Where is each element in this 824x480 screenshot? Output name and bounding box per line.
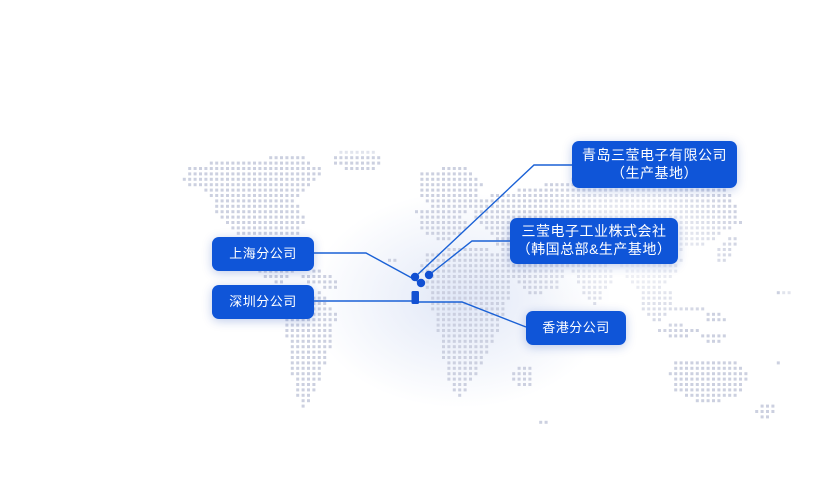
world-map-infographic: 青岛三莹电子有限公司 （生产基地） 三莹电子工业株式会社 （韩国总部&生产基地）… bbox=[0, 0, 824, 480]
map-marker-shenzhen[interactable] bbox=[412, 291, 420, 304]
label-qingdao-line-1: 青岛三莹电子有限公司 bbox=[582, 147, 727, 165]
label-box-shanghai[interactable]: 上海分公司 bbox=[212, 237, 314, 271]
map-marker-qingdao[interactable] bbox=[411, 273, 419, 281]
label-korea-line-1: 三莹电子工业株式会社 bbox=[522, 223, 667, 241]
connector-shanghai bbox=[314, 253, 421, 283]
label-box-hongkong[interactable]: 香港分公司 bbox=[526, 311, 626, 345]
map-marker-korea[interactable] bbox=[425, 271, 433, 279]
label-box-qingdao[interactable]: 青岛三莹电子有限公司 （生产基地） bbox=[572, 141, 737, 188]
label-shenzhen-line-1: 深圳分公司 bbox=[229, 294, 297, 311]
connector-korea bbox=[429, 241, 510, 275]
label-korea-line-2: （韩国总部&生产基地） bbox=[517, 241, 672, 259]
label-hongkong-line-1: 香港分公司 bbox=[542, 320, 610, 337]
connector-hongkong bbox=[416, 302, 526, 327]
map-marker-shanghai[interactable] bbox=[417, 279, 425, 287]
connector-layer bbox=[0, 0, 824, 480]
label-shanghai-line-1: 上海分公司 bbox=[229, 246, 297, 263]
label-box-shenzhen[interactable]: 深圳分公司 bbox=[212, 285, 314, 319]
label-qingdao-line-2: （生产基地） bbox=[611, 165, 698, 183]
label-box-korea-hq[interactable]: 三莹电子工业株式会社 （韩国总部&生产基地） bbox=[510, 218, 678, 264]
